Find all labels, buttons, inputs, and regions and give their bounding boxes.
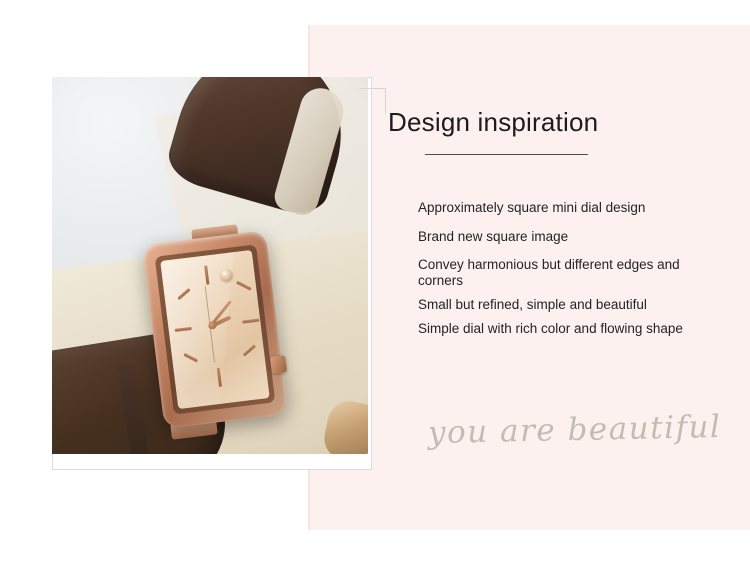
tagline-script: you are beautiful (428, 409, 722, 451)
list-item: Simple dial with rich color and flowing … (418, 321, 698, 337)
list-item: Small but refined, simple and beautiful (418, 297, 698, 313)
photo-vignette (52, 77, 368, 454)
list-item: Convey harmonious but different edges an… (418, 257, 698, 289)
list-item: Brand new square image (418, 229, 698, 245)
product-detail-page: Design inspiration Approximately square … (0, 0, 750, 576)
page-title: Design inspiration (388, 107, 598, 138)
photo-corner-bracket (360, 88, 386, 114)
list-item: Approximately square mini dial design (418, 200, 698, 216)
product-photo (52, 77, 368, 454)
title-divider (425, 154, 588, 155)
feature-list: Approximately square mini dial design Br… (418, 200, 698, 337)
